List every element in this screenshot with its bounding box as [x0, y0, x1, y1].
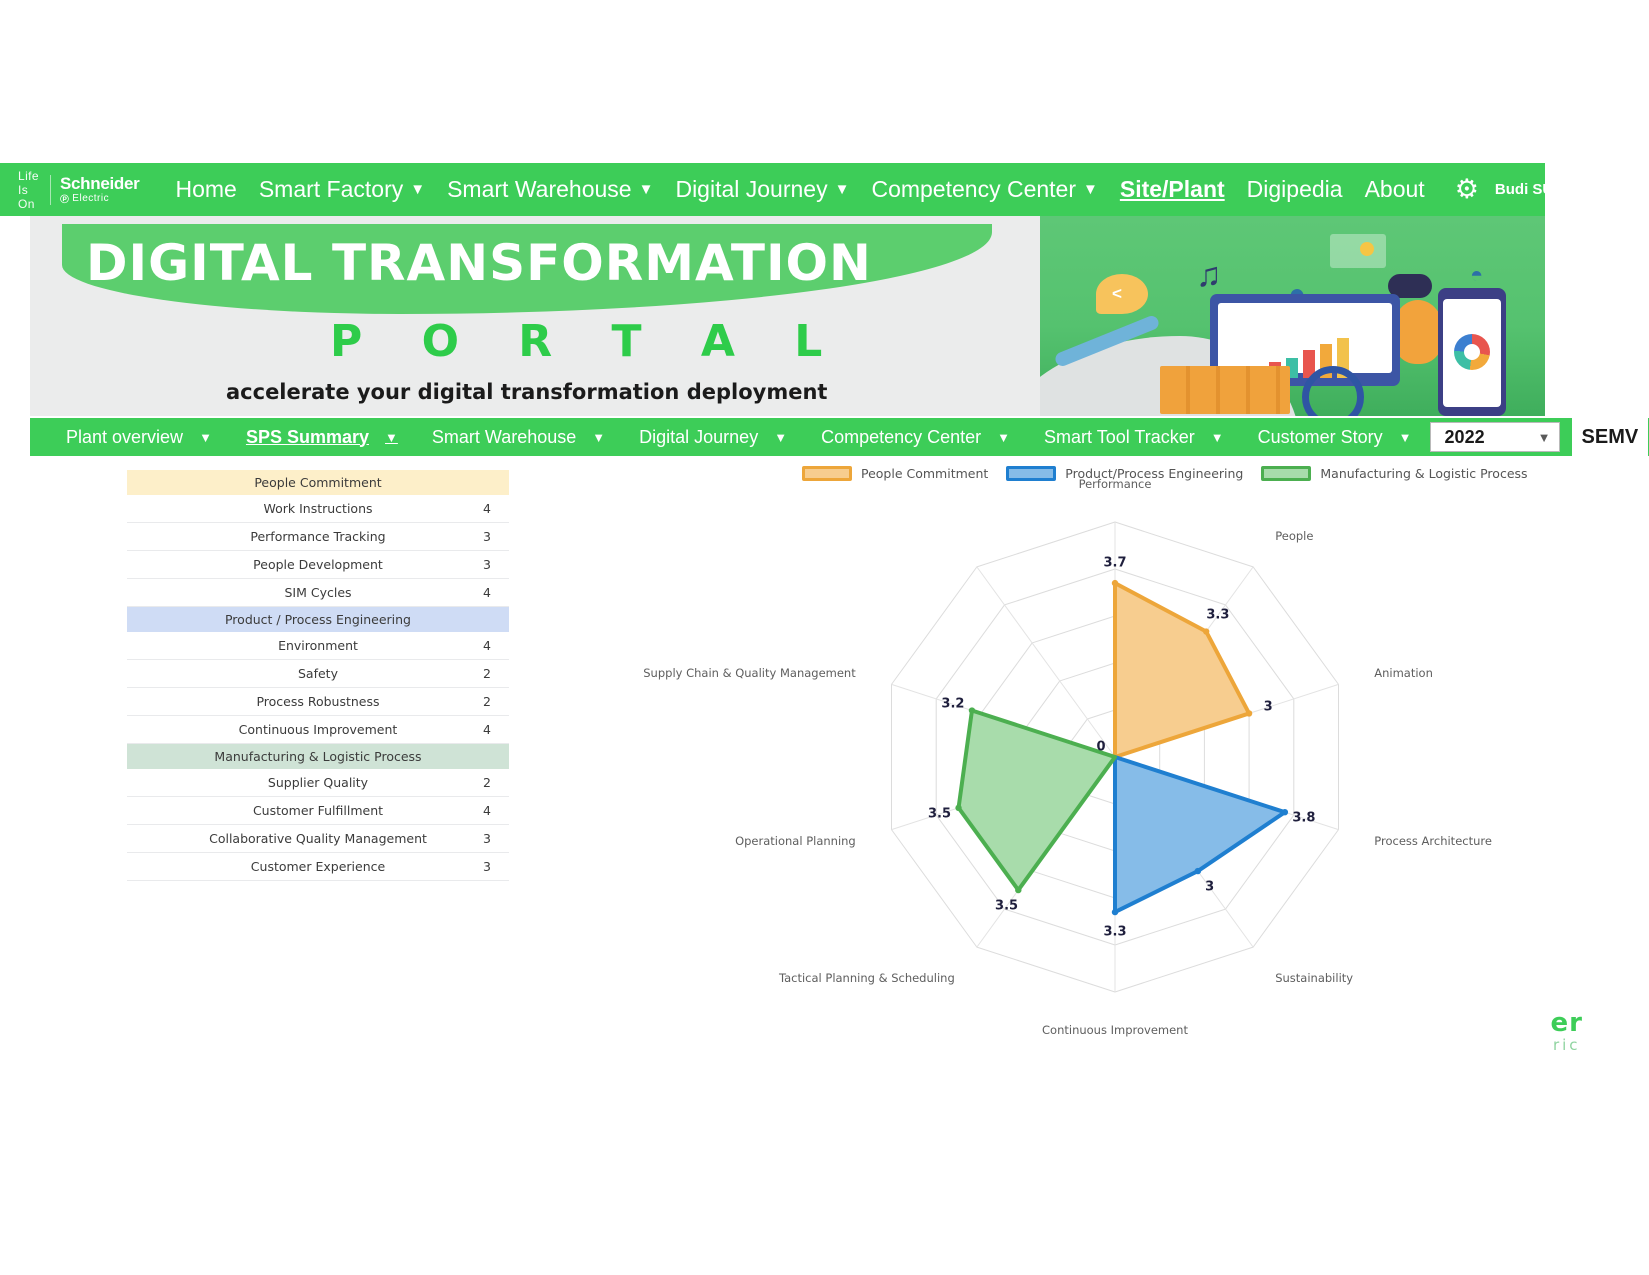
donut-chart-icon: [1454, 334, 1490, 370]
nav-label: Site/Plant: [1120, 176, 1225, 203]
row-label: Collaborative Quality Management: [209, 831, 427, 846]
chevron-down-icon: ▼: [592, 430, 605, 445]
schneider-mark-icon: ℗: [60, 193, 69, 205]
nav-label: Smart Warehouse: [447, 176, 632, 203]
table-row[interactable]: Environment4: [127, 632, 509, 660]
radar-value-label: 3.5: [928, 807, 951, 822]
row-value: 2: [483, 694, 491, 709]
legend-swatch: [1261, 466, 1311, 481]
table-group-header-people-commitment: People Commitment: [127, 470, 509, 495]
banner-text-area: DIGITAL TRANSFORMATION P O R T A L accel…: [30, 216, 1040, 416]
radar-value-label: 3.3: [1103, 925, 1126, 940]
chevron-down-icon: ▼: [410, 182, 425, 197]
boxes-icon: [1160, 366, 1290, 414]
subnav-label: SPS Summary: [246, 427, 369, 448]
subnav-label: Plant overview: [66, 427, 183, 448]
radar-axis-label: Sustainability: [1275, 971, 1353, 985]
chevron-down-icon: ▼: [835, 182, 850, 197]
row-label: Customer Fulfillment: [253, 803, 383, 818]
chevron-down-icon: ▼: [1083, 182, 1098, 197]
nav-label: Digipedia: [1247, 176, 1343, 203]
row-value: 4: [483, 722, 491, 737]
row-label: Customer Experience: [251, 859, 385, 874]
row-label: SIM Cycles: [284, 585, 351, 600]
subnav-label: Digital Journey: [639, 427, 758, 448]
user-name-label: Budi SULISTIARTO: [1495, 181, 1632, 198]
group-label: People Commitment: [254, 475, 381, 490]
nav-label: Smart Factory: [259, 176, 403, 203]
radar-value-label: 3.3: [1206, 608, 1229, 623]
nav-item-digital-journey[interactable]: Digital Journey▼: [675, 176, 849, 203]
chevron-down-icon: ▼: [774, 430, 787, 445]
row-label: Supplier Quality: [268, 775, 368, 790]
row-value: 3: [483, 529, 491, 544]
radar-value-label: 3.7: [1103, 556, 1126, 571]
nav-label: About: [1365, 176, 1425, 203]
row-label: Work Instructions: [263, 501, 372, 516]
row-value: 2: [483, 666, 491, 681]
share-bubble-icon: <: [1096, 274, 1148, 314]
nav-item-about[interactable]: About: [1365, 176, 1425, 203]
sps-scores-table: People Commitment Work Instructions4 Per…: [127, 470, 509, 881]
chevron-down-icon: ▼: [1538, 430, 1551, 445]
brand-name-line2: ℗Electric: [60, 193, 140, 205]
erric-logo: er ric: [1551, 1010, 1583, 1053]
schneider-electric-logo: Schneider ℗Electric: [60, 175, 140, 205]
group-label: Product / Process Engineering: [225, 612, 411, 627]
subnav-item-customer-story[interactable]: Customer Story▼: [1258, 427, 1412, 448]
subnav-item-competency-center[interactable]: Competency Center▼: [821, 427, 1010, 448]
site-code-box[interactable]: SEMV: [1572, 418, 1649, 456]
erric-logo-bottom: ric: [1551, 1038, 1583, 1053]
banner-subtitle: P O R T A L: [330, 316, 844, 367]
table-row[interactable]: Performance Tracking3: [127, 523, 509, 551]
subnav-item-smart-warehouse[interactable]: Smart Warehouse▼: [432, 427, 605, 448]
radar-axis-label: Supply Chain & Quality Management: [643, 666, 855, 680]
subnav-item-digital-journey[interactable]: Digital Journey▼: [639, 427, 787, 448]
radar-plot: [740, 482, 1530, 1042]
radar-axis-label: Tactical Planning & Scheduling: [779, 971, 955, 985]
subnav-item-sps-summary[interactable]: SPS Summary▼: [246, 427, 398, 448]
chevron-down-icon: ▼: [1399, 430, 1412, 445]
table-row[interactable]: Collaborative Quality Management3: [127, 825, 509, 853]
subnav-item-plant-overview[interactable]: Plant overview▼: [66, 427, 212, 448]
nav-item-home[interactable]: Home: [175, 176, 236, 203]
row-label: Safety: [298, 666, 338, 681]
nav-item-smart-warehouse[interactable]: Smart Warehouse▼: [447, 176, 653, 203]
table-group-header-manufacturing-logistic-process: Manufacturing & Logistic Process: [127, 744, 509, 769]
radar-axis-label: Performance: [1079, 477, 1152, 491]
sps-radar-chart: People Commitment Product/Process Engine…: [740, 462, 1530, 1042]
table-row[interactable]: Continuous Improvement4: [127, 716, 509, 744]
table-group-header-product-process-engineering: Product / Process Engineering: [127, 607, 509, 632]
nav-label: Competency Center: [871, 176, 1076, 203]
row-value: 3: [483, 831, 491, 846]
row-value: 2: [483, 775, 491, 790]
legend-label: Manufacturing & Logistic Process: [1320, 466, 1527, 481]
legend-item-people-commitment[interactable]: People Commitment: [802, 466, 988, 481]
secondary-navbar: Plant overview▼ SPS Summary▼ Smart Wareh…: [30, 418, 1649, 456]
hero-banner: DIGITAL TRANSFORMATION P O R T A L accel…: [30, 216, 1545, 416]
music-note-icon: ♫: [1196, 256, 1222, 295]
radar-axis-label: Continuous Improvement: [1042, 1023, 1188, 1037]
table-row[interactable]: People Development3: [127, 551, 509, 579]
row-label: Performance Tracking: [250, 529, 385, 544]
nav-item-site-plant[interactable]: Site/Plant: [1120, 176, 1225, 203]
table-row[interactable]: Customer Fulfillment4: [127, 797, 509, 825]
site-code-label: SEMV: [1582, 426, 1639, 449]
life-is-on-tagline: Life Is On: [18, 169, 40, 211]
chart-legend: People Commitment Product/Process Engine…: [802, 466, 1546, 481]
chevron-down-icon: ▼: [639, 182, 654, 197]
row-label: Environment: [278, 638, 358, 653]
chevron-down-icon: ▼: [199, 430, 212, 445]
primary-navbar: Life Is On Schneider ℗Electric Home Smar…: [0, 163, 1545, 216]
row-value: 4: [483, 638, 491, 653]
legend-item-manufacturing-logistic-process[interactable]: Manufacturing & Logistic Process: [1261, 466, 1527, 481]
avatar[interactable]: [1640, 174, 1642, 206]
radar-value-label: 3.8: [1292, 811, 1315, 826]
row-value: 3: [483, 859, 491, 874]
row-value: 4: [483, 585, 491, 600]
chevron-down-icon: ▼: [997, 430, 1010, 445]
banner-title: DIGITAL TRANSFORMATION: [86, 234, 986, 292]
subnav-label: Customer Story: [1258, 427, 1383, 448]
weather-window-icon: [1330, 234, 1386, 268]
row-label: Continuous Improvement: [239, 722, 398, 737]
nav-item-digipedia[interactable]: Digipedia: [1247, 176, 1343, 203]
brand-logo[interactable]: Life Is On Schneider ℗Electric: [0, 169, 153, 211]
gear-icon[interactable]: ⚙: [1455, 176, 1479, 203]
radar-axis-label: People: [1275, 529, 1313, 543]
row-value: 4: [483, 803, 491, 818]
radar-value-label: 3: [1205, 880, 1214, 895]
legend-label: People Commitment: [861, 466, 988, 481]
table-row[interactable]: Work Instructions4: [127, 495, 509, 523]
group-label: Manufacturing & Logistic Process: [214, 749, 421, 764]
table-row[interactable]: Process Robustness2: [127, 688, 509, 716]
year-select[interactable]: 2022 ▼: [1430, 422, 1560, 452]
radar-value-label: 3: [1264, 700, 1273, 715]
radar-axis-label: Operational Planning: [735, 834, 856, 848]
radar-axis-label: Animation: [1374, 666, 1433, 680]
subnav-label: Smart Tool Tracker: [1044, 427, 1195, 448]
nav-item-competency-center[interactable]: Competency Center▼: [871, 176, 1097, 203]
table-row[interactable]: Safety2: [127, 660, 509, 688]
row-label: People Development: [253, 557, 383, 572]
legend-swatch: [1006, 466, 1056, 481]
subnav-label: Smart Warehouse: [432, 427, 576, 448]
nav-item-smart-factory[interactable]: Smart Factory▼: [259, 176, 425, 203]
radar-axis-label: Process Architecture: [1374, 834, 1492, 848]
row-label: Process Robustness: [256, 694, 379, 709]
subnav-label: Competency Center: [821, 427, 981, 448]
row-value: 3: [483, 557, 491, 572]
erric-logo-top: er: [1551, 1010, 1583, 1036]
legend-swatch: [802, 466, 852, 481]
row-value: 4: [483, 501, 491, 516]
radar-value-label: 3.2: [941, 697, 964, 712]
subnav-item-smart-tool-tracker[interactable]: Smart Tool Tracker▼: [1044, 427, 1224, 448]
radar-value-label: 0: [1096, 740, 1105, 755]
table-row[interactable]: SIM Cycles4: [127, 579, 509, 607]
banner-illustration: ♫ < ◓ ◓: [1040, 216, 1545, 416]
chevron-down-icon: ▼: [1211, 430, 1224, 445]
banner-tagline: accelerate your digital transformation d…: [226, 380, 827, 404]
chevron-down-icon: ▼: [385, 430, 398, 445]
table-row[interactable]: Customer Experience3: [127, 853, 509, 881]
nav-label: Digital Journey: [675, 176, 827, 203]
nav-label: Home: [175, 176, 236, 203]
wifi-icon-2: ◓: [1470, 262, 1483, 288]
table-row[interactable]: Supplier Quality2: [127, 769, 509, 797]
brand-name-line1: Schneider: [60, 175, 140, 192]
radar-value-label: 3.5: [995, 899, 1018, 914]
year-select-value: 2022: [1445, 427, 1485, 448]
